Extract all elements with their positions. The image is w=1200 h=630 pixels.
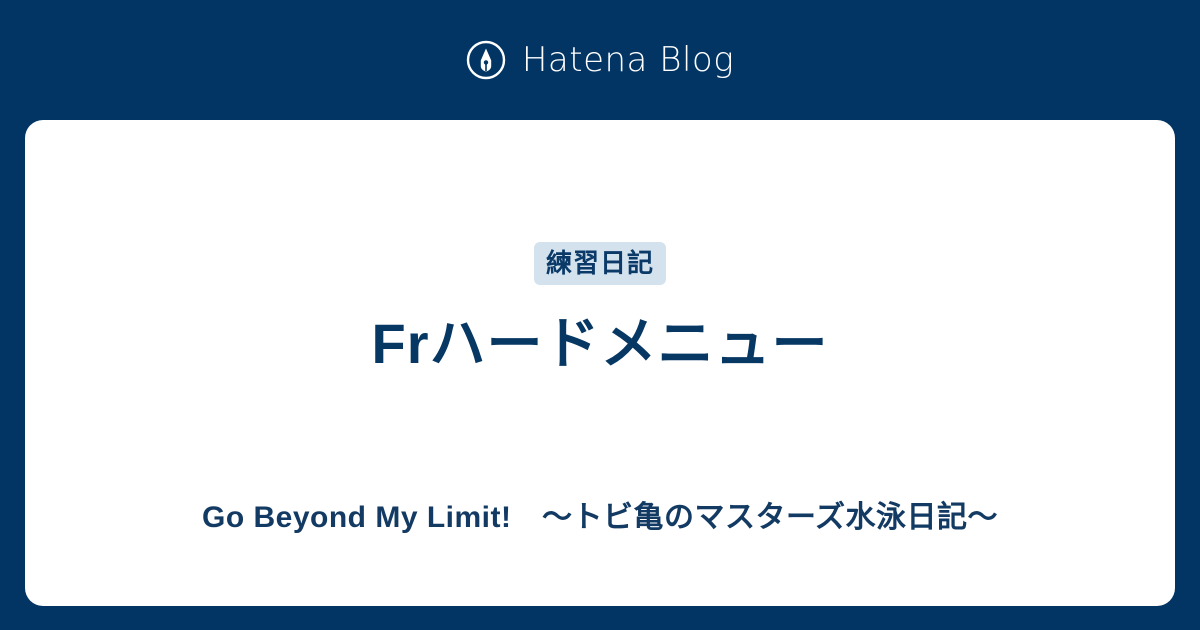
entry-main: 練習日記 Frハードメニュー (25, 120, 1175, 500)
entry-card: 練習日記 Frハードメニュー Go Beyond My Limit! 〜トビ亀の… (25, 120, 1175, 606)
brand-header: Hatena Blog (0, 0, 1200, 120)
entry-title: Frハードメニュー (372, 311, 829, 377)
brand-name: Hatena Blog (522, 43, 734, 77)
ogp-share-card: Hatena Blog 練習日記 Frハードメニュー Go Beyond My … (0, 0, 1200, 630)
category-badge: 練習日記 (534, 242, 666, 285)
blog-subtitle: Go Beyond My Limit! 〜トビ亀のマスターズ水泳日記〜 (25, 500, 1175, 536)
fountain-pen-nib-icon (466, 40, 506, 80)
